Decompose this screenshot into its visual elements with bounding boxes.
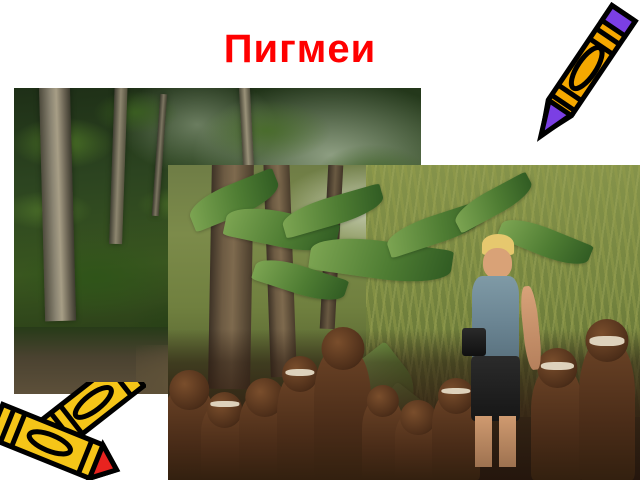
child-headband: [541, 362, 573, 370]
crayon-top-right-decoration: [520, 0, 640, 161]
photographer-shorts: [471, 356, 521, 421]
child-head: [321, 327, 364, 370]
photo-village[interactable]: [168, 165, 640, 480]
crayons-bottom-left-decoration: [0, 382, 146, 480]
photographer-head: [483, 248, 513, 278]
child-head: [400, 400, 436, 436]
presentation-slide: Пигмеи: [0, 0, 640, 480]
photographer-leg-left: [475, 416, 492, 467]
photo-village-content: [168, 165, 640, 480]
child-headband: [210, 401, 239, 406]
child-head: [207, 392, 243, 428]
person-child: [579, 341, 636, 480]
person-photographer: [461, 234, 532, 467]
child-headband: [589, 336, 624, 346]
photographer-leg-right: [499, 416, 516, 467]
child-head: [170, 370, 209, 409]
child-head: [367, 385, 399, 417]
person-child: [531, 367, 583, 480]
camera-icon: [462, 328, 486, 356]
page-title: Пигмеи: [0, 26, 600, 72]
